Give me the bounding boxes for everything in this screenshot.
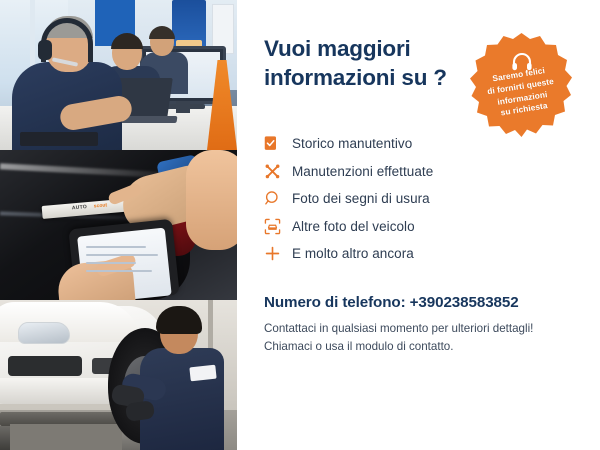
phone-number[interactable]: +390238583852 <box>410 294 519 311</box>
mechanic-wheel-inspection-photo <box>0 300 237 450</box>
feature-label: Manutenzioni effettuate <box>292 164 433 179</box>
plus-icon <box>264 245 292 262</box>
feature-item-foto-usura[interactable]: Foto dei segni di usura <box>264 185 584 213</box>
car-scan-icon <box>264 218 292 235</box>
feature-item-altro[interactable]: E molto altro ancora <box>264 240 584 268</box>
feature-label: Altre foto del veicolo <box>292 219 415 234</box>
feature-item-storico[interactable]: Storico manutentivo <box>264 130 584 158</box>
wrench-tools-icon <box>264 163 292 180</box>
page-title: Vuoi maggioriinformazioni su ? <box>264 34 479 93</box>
contact-instructions: Contattaci in qualsiasi momento per ulte… <box>264 320 594 356</box>
photo-column: AUTOscout <box>0 0 237 450</box>
checkbox-checked-icon <box>264 136 292 151</box>
feature-list: Storico manutentivo Manutenzi <box>264 130 584 268</box>
feature-label: E molto altro ancora <box>292 246 414 261</box>
phone-number-line[interactable]: Numero di telefono: +390238583852 <box>264 294 594 311</box>
promo-banner: AUTOscout Vuoi <box>0 0 600 450</box>
phone-label: Numero di telefono: <box>264 294 410 311</box>
contact-line-1: Contattaci in qualsiasi momento per ulte… <box>264 320 594 338</box>
paint-gauge-inspection-photo: AUTOscout <box>0 150 237 300</box>
magnifier-icon <box>264 190 292 207</box>
feature-label: Foto dei segni di usura <box>292 191 430 206</box>
feature-item-manutenzioni[interactable]: Manutenzioni effettuate <box>264 158 584 186</box>
contact-line-2: Chiamaci o usa il modulo di contatto. <box>264 338 594 356</box>
content-panel: Vuoi maggioriinformazioni su ? Saremo fe… <box>237 0 600 450</box>
feature-label: Storico manutentivo <box>292 136 412 151</box>
feature-item-altre-foto[interactable]: Altre foto del veicolo <box>264 213 584 241</box>
callout-badge: Saremo felicidi fornirti questeinformazi… <box>465 31 578 144</box>
call-centre-agents-photo <box>0 0 237 150</box>
